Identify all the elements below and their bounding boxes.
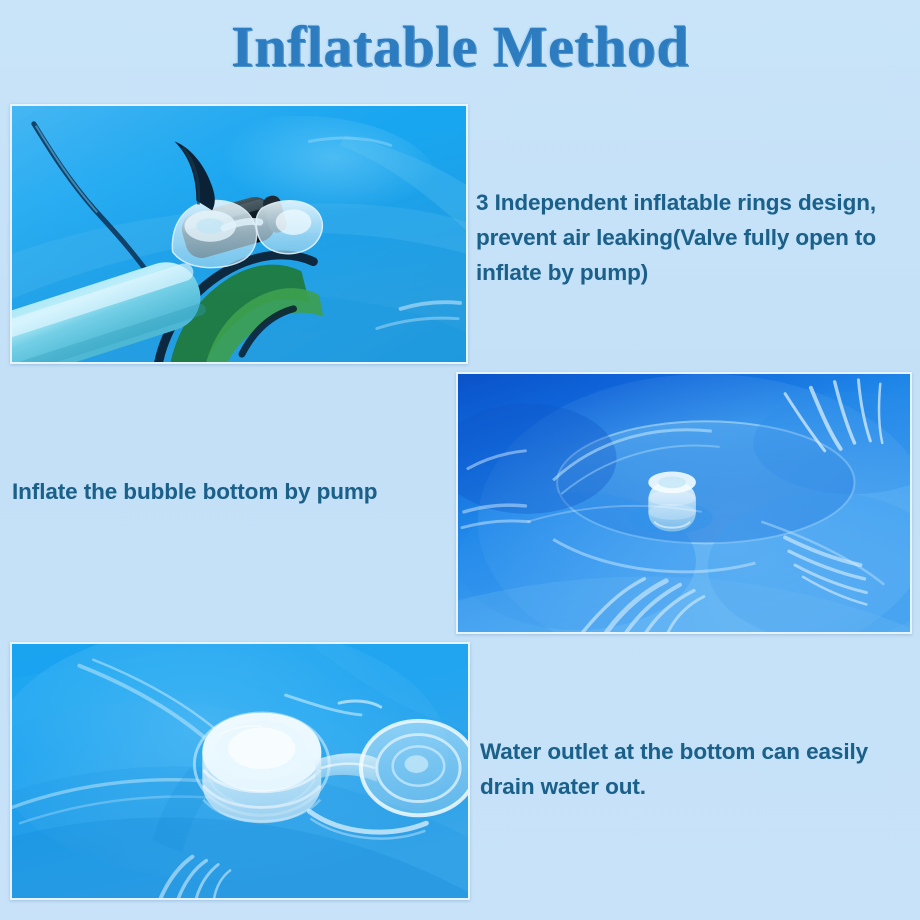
- pump-valve-illustration: [12, 106, 466, 362]
- bubble-bottom-photo: [456, 372, 912, 634]
- caption-bubble-bottom: Inflate the bubble bottom by pump: [12, 474, 442, 509]
- caption-water-outlet: Water outlet at the bottom can easily dr…: [480, 734, 890, 804]
- water-outlet-illustration: [12, 644, 468, 898]
- page-title: Inflatable Method: [0, 16, 920, 78]
- bubble-bottom-illustration: [458, 374, 910, 632]
- water-outlet-photo: [10, 642, 470, 900]
- caption-inflatable-rings: 3 Independent inflatable rings design, p…: [476, 185, 900, 290]
- infographic-page: Inflatable Method: [0, 0, 920, 920]
- pump-valve-photo: [10, 104, 468, 364]
